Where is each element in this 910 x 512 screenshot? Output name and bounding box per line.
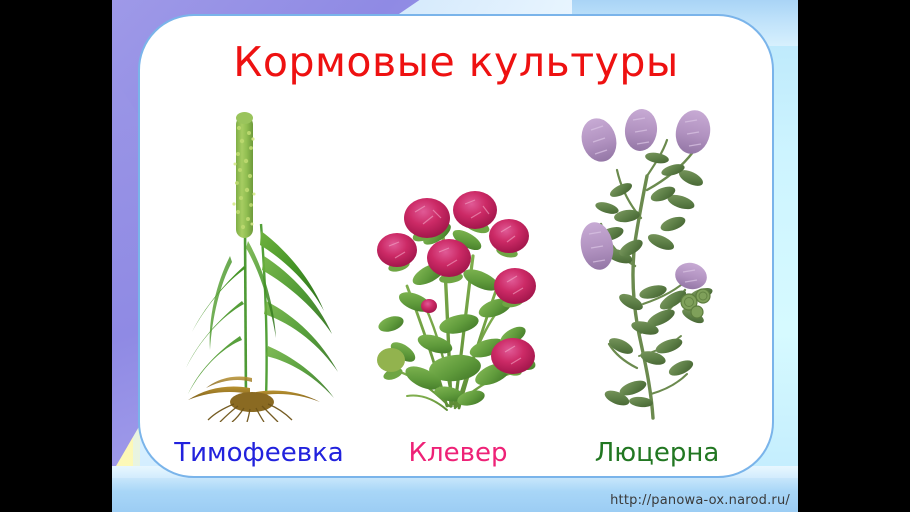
alfalfa-illustration (569, 106, 745, 422)
red-clover-illustration (363, 106, 553, 422)
plant-label-row: Тимофеевка Клевер Люцерна (164, 438, 752, 468)
plant-label-alfalfa: Люцерна (562, 438, 752, 468)
slide-title: Кормовые культуры (140, 38, 772, 86)
plant-image-clover (363, 104, 553, 422)
source-url-watermark: http://panowa-ox.narod.ru/ (610, 493, 790, 508)
plant-label-timothy: Тимофеевка (164, 438, 354, 468)
plant-illustration-row (164, 104, 752, 422)
plant-image-alfalfa (562, 104, 752, 422)
plant-label-clover: Клевер (363, 438, 553, 468)
plant-image-timothy (164, 104, 354, 422)
presentation-slide: Кормовые культуры (112, 0, 798, 512)
timothy-grass-illustration (166, 106, 352, 422)
screenshot-stage: Кормовые культуры (0, 0, 910, 512)
content-card: Кормовые культуры (138, 14, 774, 478)
